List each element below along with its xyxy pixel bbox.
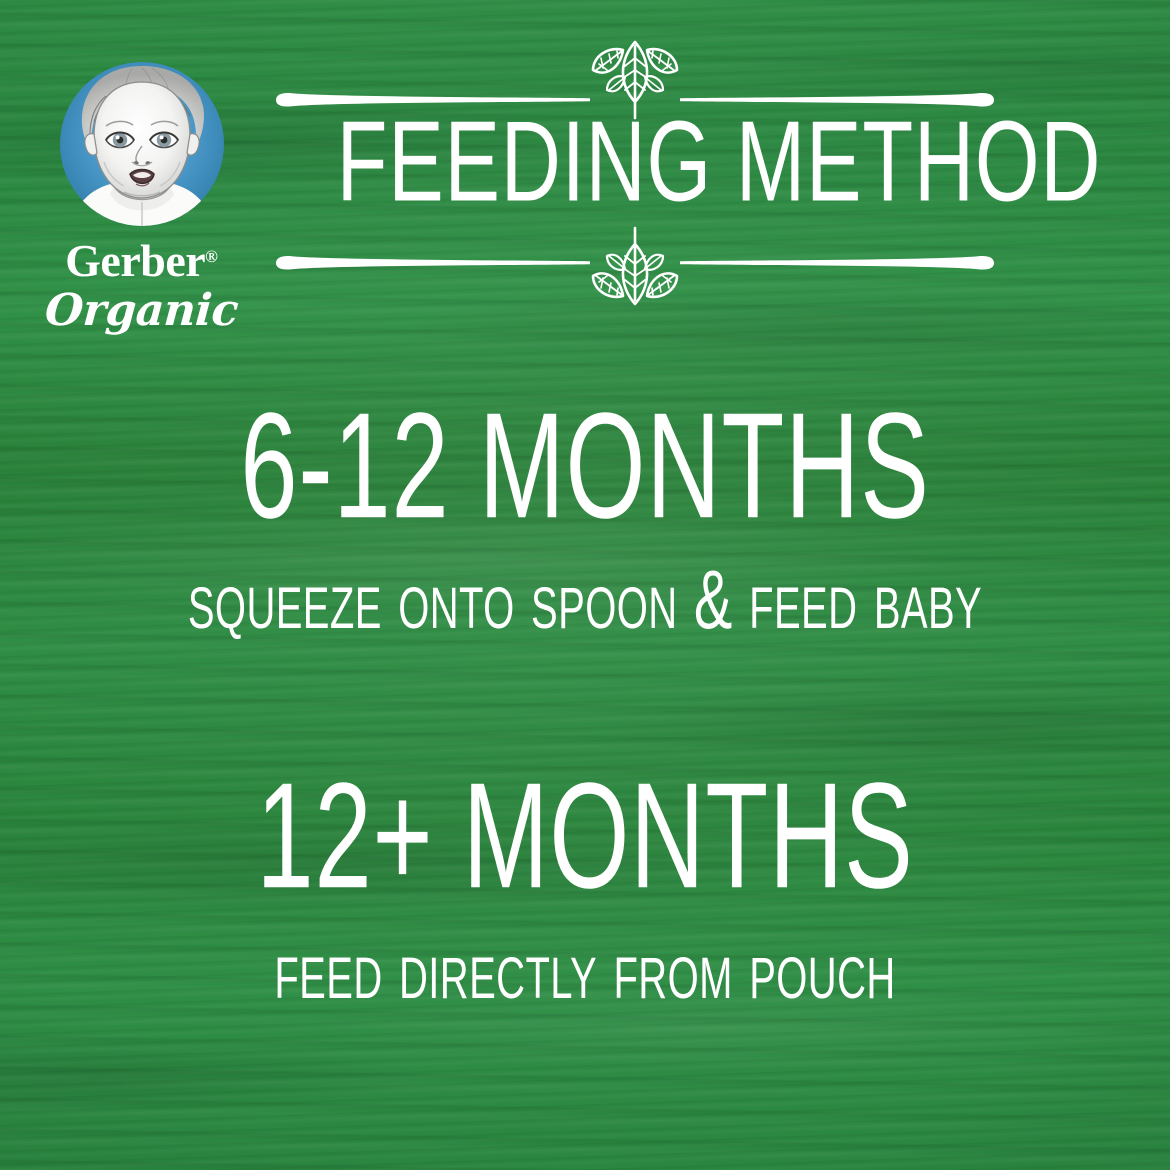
feeding-section-6-12-months: 6-12 MONTHS Squeeze onto spoon & feed ba… [0, 400, 1170, 636]
instruction-label: Squeeze onto spoon & feed baby [117, 558, 1053, 642]
header: FEEDING METHOD [262, 28, 1008, 286]
registered-mark: ® [205, 247, 218, 266]
age-range-label: 12+ MONTHS [129, 761, 1042, 911]
brand-name: Gerber® [34, 232, 249, 286]
feeding-method-panel: Gerber® Organic [0, 0, 1170, 1170]
brand-name-text: Gerber [65, 235, 205, 286]
age-range-label: 6-12 MONTHS [129, 391, 1042, 541]
gerber-baby-icon [56, 58, 228, 230]
brand-sub-name: Organic [32, 286, 250, 336]
leaf-ornament-icon [551, 224, 719, 310]
page-title: FEEDING METHOD [337, 105, 934, 219]
instruction-label: Feed directly from pouch [117, 928, 1053, 1012]
brand-logo: Gerber® Organic [34, 58, 249, 336]
feeding-section-12-plus-months: 12+ MONTHS Feed directly from pouch [0, 770, 1170, 1006]
